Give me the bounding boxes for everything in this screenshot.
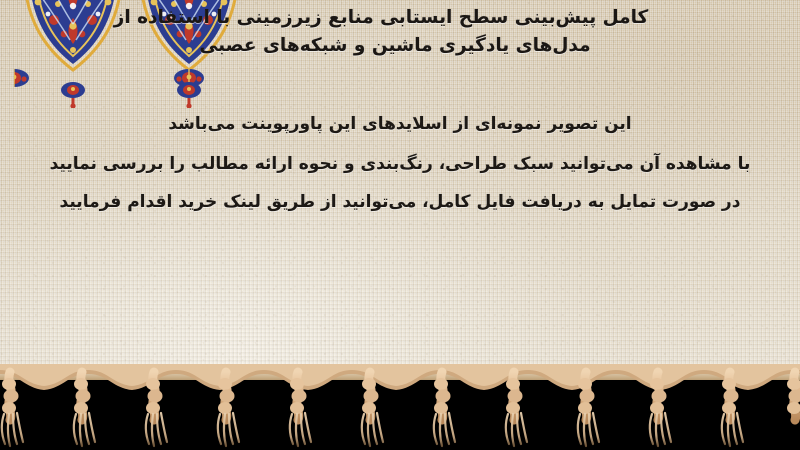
presentation-slide: کامل پیش‌بینی سطح ایستابی منابع زیرزمینی… (0, 0, 800, 450)
slide-title-line-1: کامل پیش‌بینی سطح ایستابی منابع زیرزمینی… (4, 4, 786, 32)
slide-title: کامل پیش‌بینی سطح ایستابی منابع زیرزمینی… (0, 4, 800, 60)
carpet-fringe-border (0, 364, 800, 450)
slide-body: این تصویر نمونه‌ای از اسلایدهای این پاور… (0, 116, 800, 211)
slide-body-line-1: این تصویر نمونه‌ای از اسلایدهای این پاور… (0, 116, 800, 133)
slide-body-line-3: در صورت تمایل به دریافت فایل کامل، می‌تو… (0, 194, 800, 211)
slide-body-line-2: با مشاهده آن می‌توانید سبک طراحی، رنگ‌بن… (0, 156, 800, 173)
slide-title-line-2: مدل‌های یادگیری ماشین و شبکه‌های عصبی (4, 32, 786, 60)
